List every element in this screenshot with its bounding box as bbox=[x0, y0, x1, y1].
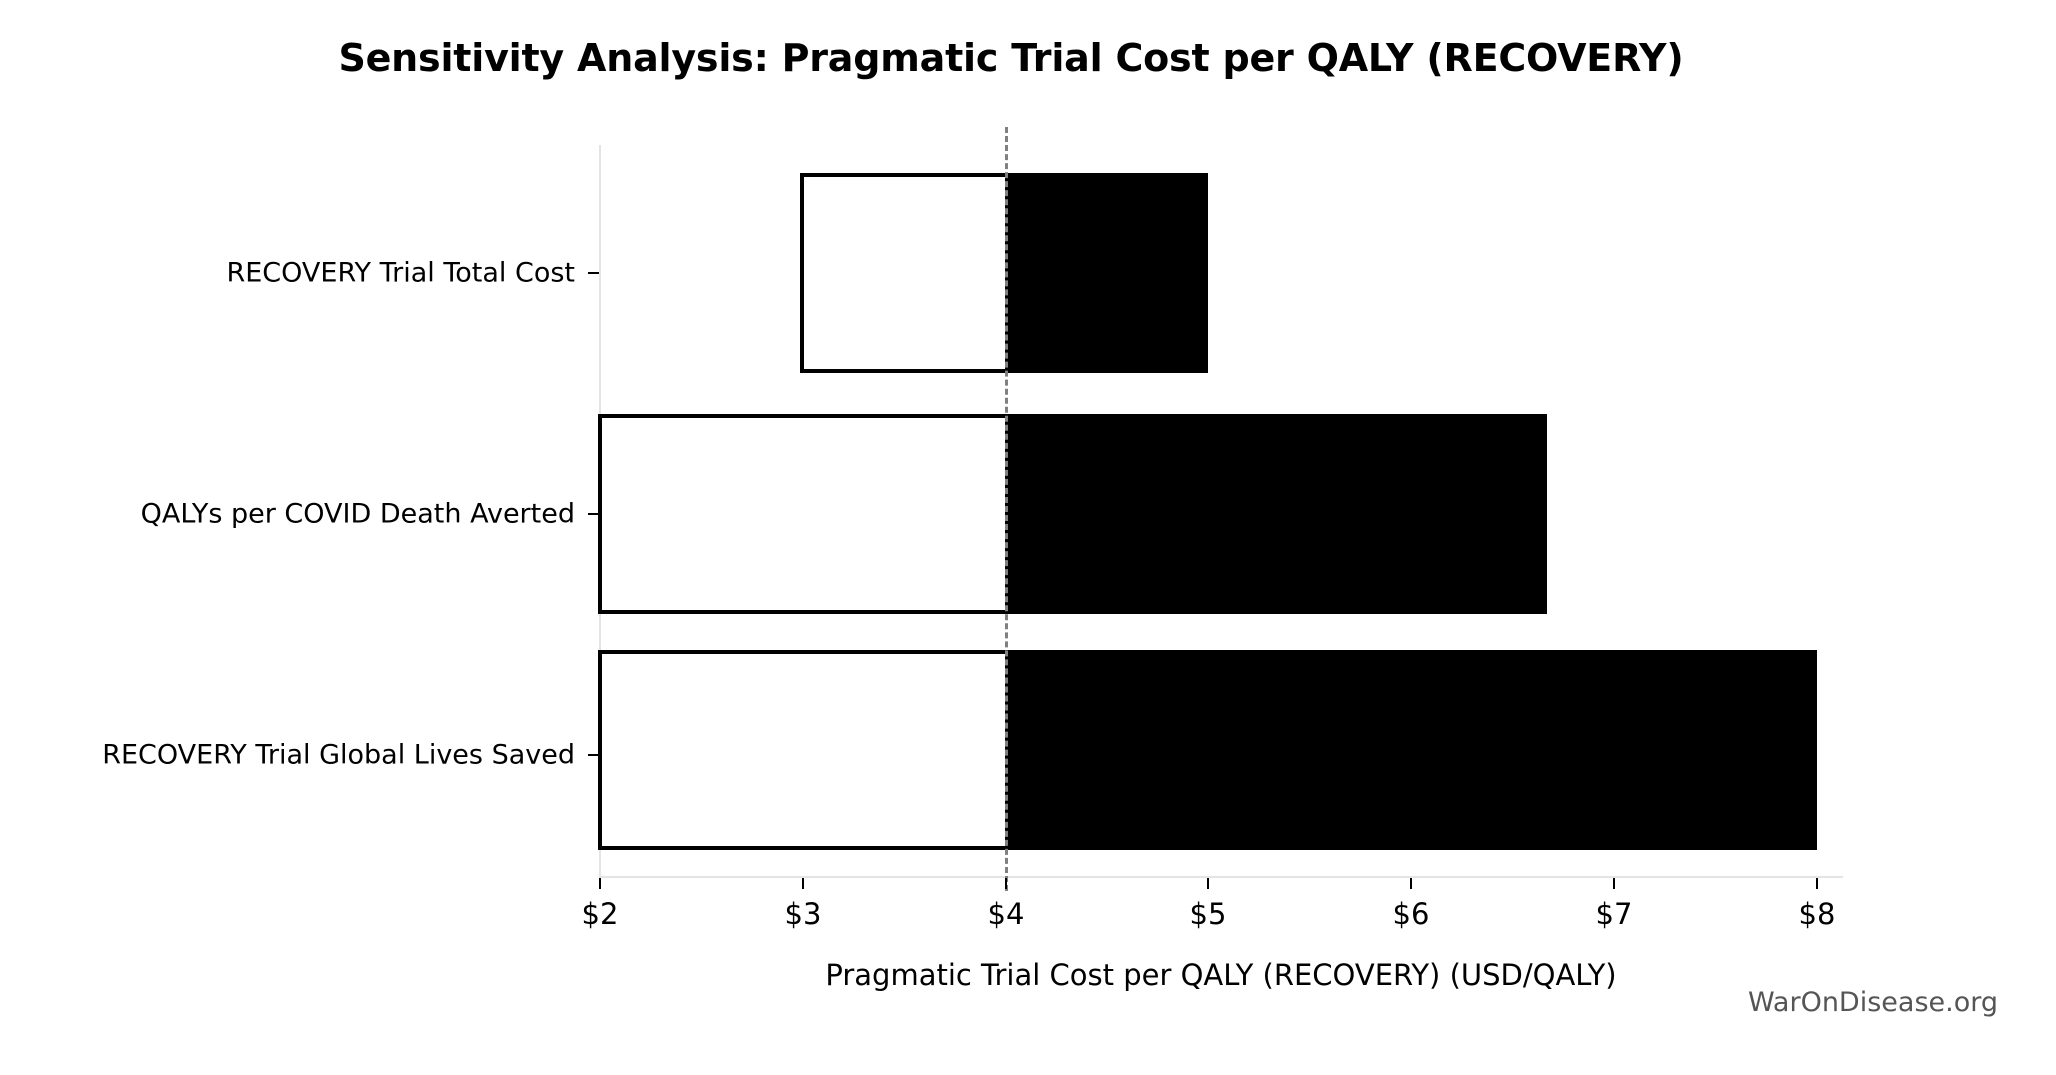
y-axis-label-qalys-per-covid-death-averted: QALYs per COVID Death Averted bbox=[141, 499, 575, 530]
chart-figure: Sensitivity Analysis: Pragmatic Trial Co… bbox=[0, 0, 2056, 1075]
x-tick-label-8: $8 bbox=[1799, 897, 1836, 931]
tornado-bar-high-recovery-trial-global-lives-saved bbox=[1005, 650, 1817, 850]
x-tick-label-4: $4 bbox=[988, 897, 1025, 931]
chart-title: Sensitivity Analysis: Pragmatic Trial Co… bbox=[0, 36, 2056, 80]
x-tick-mark-5 bbox=[1613, 878, 1615, 889]
x-axis-spine bbox=[599, 876, 1843, 878]
x-axis-title: Pragmatic Trial Cost per QALY (RECOVERY)… bbox=[599, 958, 1843, 992]
x-tick-label-2: $2 bbox=[582, 897, 619, 931]
x-tick-label-5: $5 bbox=[1190, 897, 1227, 931]
tornado-bar-low-recovery-trial-total-cost bbox=[800, 173, 1005, 373]
baseline-reference-line bbox=[1005, 127, 1008, 891]
tornado-bar-high-qalys-per-covid-death-averted bbox=[1005, 414, 1547, 614]
y-axis-label-recovery-trial-global-lives-saved: RECOVERY Trial Global Lives Saved bbox=[102, 740, 575, 771]
x-tick-mark-6 bbox=[1816, 878, 1818, 889]
x-tick-label-6: $6 bbox=[1393, 897, 1430, 931]
x-tick-mark-2 bbox=[1005, 878, 1007, 889]
x-tick-mark-4 bbox=[1410, 878, 1412, 889]
x-tick-mark-1 bbox=[802, 878, 804, 889]
x-tick-label-7: $7 bbox=[1596, 897, 1633, 931]
y-tick-mark-0 bbox=[588, 272, 599, 274]
y-axis-label-recovery-trial-total-cost: RECOVERY Trial Total Cost bbox=[226, 258, 575, 289]
x-tick-mark-0 bbox=[599, 878, 601, 889]
tornado-bar-low-recovery-trial-global-lives-saved bbox=[598, 650, 1005, 850]
watermark: WarOnDisease.org bbox=[1748, 987, 1998, 1018]
tornado-bar-low-qalys-per-covid-death-averted bbox=[598, 414, 1005, 614]
x-tick-mark-3 bbox=[1207, 878, 1209, 889]
plot-area bbox=[599, 145, 1843, 878]
tornado-bar-high-recovery-trial-total-cost bbox=[1005, 173, 1208, 373]
x-tick-label-3: $3 bbox=[785, 897, 822, 931]
